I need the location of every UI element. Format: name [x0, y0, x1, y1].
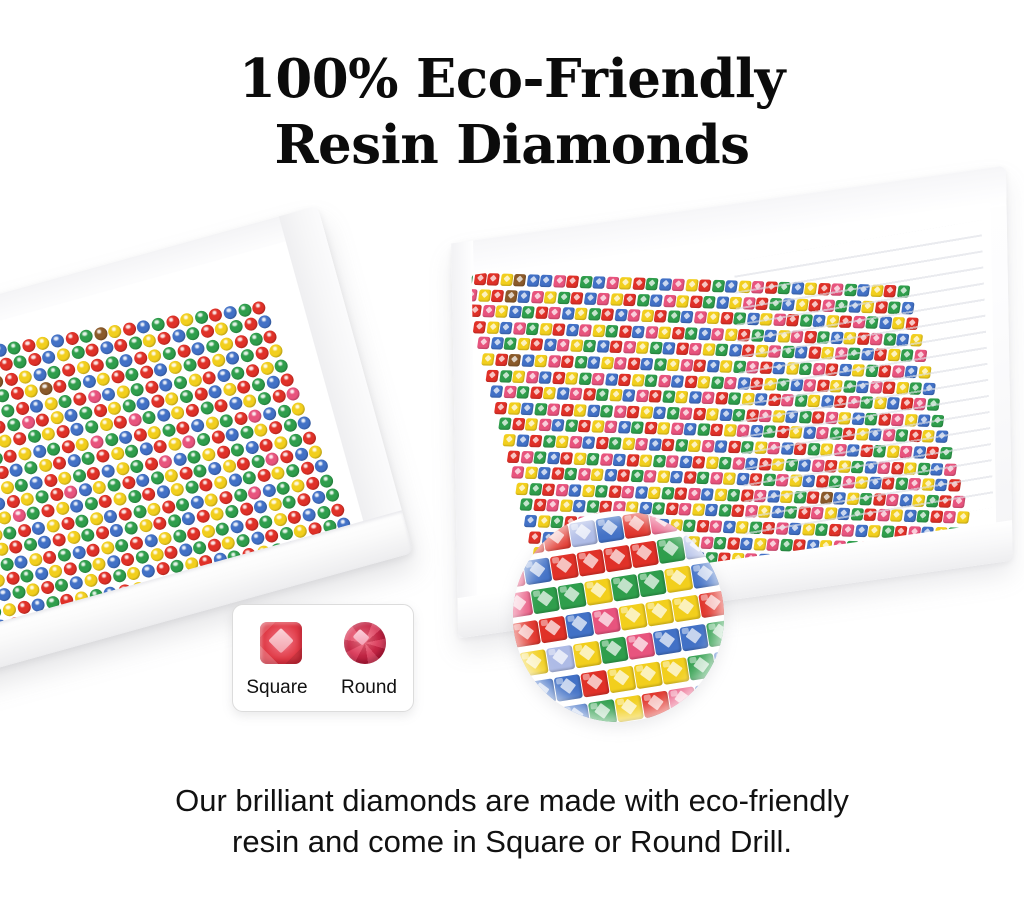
- drill-bead: [25, 583, 40, 598]
- drill-bead: [495, 305, 508, 317]
- drill-bead: [547, 355, 560, 367]
- drill-bead: [35, 413, 50, 428]
- drill-bead: [170, 406, 185, 421]
- drill-bead: [173, 375, 188, 390]
- drill-bead: [271, 466, 286, 481]
- drill-bead: [216, 444, 231, 459]
- drill-bead: [279, 526, 294, 541]
- magnified-drill-bead: [649, 720, 678, 722]
- drill-bead: [126, 566, 141, 581]
- drill-bead: [0, 496, 6, 511]
- drill-bead: [573, 452, 586, 464]
- drill-bead: [182, 435, 197, 450]
- drill-bead: [573, 404, 586, 416]
- drill-bead: [490, 337, 503, 349]
- drill-bead: [671, 327, 684, 339]
- drill-bead: [819, 588, 832, 600]
- drill-bead: [72, 545, 87, 560]
- drill-bead: [116, 384, 131, 399]
- drill-bead: [640, 406, 653, 418]
- magnified-drill-bead: [695, 682, 724, 710]
- drill-bead: [481, 353, 494, 365]
- magnified-drill-bead: [542, 524, 571, 552]
- drill-bead: [21, 415, 36, 430]
- drill-bead: [49, 487, 64, 502]
- drill-bead: [0, 434, 12, 449]
- drill-bead: [530, 290, 543, 302]
- drill-bead: [556, 339, 569, 351]
- drill-bead: [319, 473, 334, 488]
- drill-bead: [239, 425, 254, 440]
- drill-bead: [595, 437, 608, 449]
- drill-bead: [190, 418, 205, 433]
- drill-bead: [596, 341, 609, 353]
- drill-bead: [214, 322, 229, 337]
- drill-bead: [512, 322, 525, 334]
- drill-bead: [645, 326, 658, 338]
- drill-bead: [176, 343, 191, 358]
- drill-bead: [18, 369, 33, 384]
- drill-bead: [26, 429, 41, 444]
- magnified-drill-bead: [531, 587, 560, 615]
- magnified-square-drills-circle: [513, 511, 724, 722]
- drill-bead: [78, 406, 93, 421]
- drill-bead: [294, 447, 309, 462]
- drill-bead: [634, 486, 647, 498]
- drill-bead: [89, 511, 104, 526]
- drill-bead: [133, 350, 148, 365]
- drill-bead: [653, 358, 666, 370]
- magnified-drill-bead: [546, 645, 575, 673]
- drill-bead: [187, 526, 202, 541]
- drill-bead: [684, 327, 697, 339]
- drill-bead: [254, 423, 269, 438]
- drill-bead: [500, 274, 513, 286]
- drill-bead: [587, 404, 600, 416]
- drill-bead: [138, 442, 153, 457]
- drill-bead: [204, 492, 219, 507]
- drill-bead: [236, 533, 251, 548]
- drill-bead: [709, 472, 722, 484]
- drill-bead: [689, 295, 702, 307]
- drill-bead: [710, 376, 723, 388]
- drill-bead: [274, 435, 289, 450]
- legend-label-row: Square Round: [233, 677, 413, 699]
- drill-bead: [947, 575, 960, 587]
- drill-bead: [648, 486, 661, 498]
- drill-bead: [214, 399, 229, 414]
- magnified-drill-bead: [576, 549, 605, 577]
- drill-bead: [503, 434, 516, 446]
- drill-bead: [666, 455, 679, 467]
- drill-bead: [574, 308, 587, 320]
- drill-bead: [525, 419, 538, 431]
- drill-bead: [206, 615, 221, 630]
- drill-bead: [701, 440, 714, 452]
- drill-bead: [112, 492, 127, 507]
- drill-bead: [491, 289, 504, 301]
- drill-bead: [221, 536, 236, 551]
- drill-bead: [706, 360, 719, 372]
- drill-bead: [643, 470, 656, 482]
- drill-bead: [722, 521, 735, 533]
- drill-bead: [31, 521, 46, 536]
- drill-bead: [125, 367, 140, 382]
- drill-bead: [472, 305, 482, 317]
- drill-bead: [133, 427, 148, 442]
- drill-bead: [268, 420, 283, 435]
- drill-bead: [251, 377, 266, 392]
- drill-bead: [938, 591, 951, 601]
- drill-bead: [658, 278, 671, 290]
- drill-bead: [623, 341, 636, 353]
- drill-bead: [9, 463, 24, 478]
- drill-bead: [617, 469, 630, 481]
- drill-bead: [618, 373, 631, 385]
- drill-bead: [511, 466, 524, 478]
- drill-bead: [276, 480, 291, 495]
- magnified-drill-bead: [622, 511, 651, 539]
- drill-bead: [858, 589, 871, 601]
- drill-bead: [683, 423, 696, 435]
- drill-bead: [933, 575, 946, 587]
- drill-bead: [245, 363, 260, 378]
- magnified-drill-bead: [679, 624, 708, 652]
- magnified-drill-bead: [588, 511, 617, 514]
- drill-bead: [302, 507, 317, 522]
- drill-bead: [960, 576, 973, 588]
- drill-bead: [11, 585, 26, 600]
- drill-bead: [277, 404, 292, 419]
- drill-bead: [591, 372, 604, 384]
- drill-bead: [680, 311, 693, 323]
- drill-bead: [495, 354, 508, 366]
- drill-bead: [719, 360, 732, 372]
- drill-bead: [727, 441, 740, 453]
- drill-bead: [57, 547, 72, 562]
- drill-bead: [663, 294, 676, 306]
- drill-bead: [69, 422, 84, 437]
- drill-bead: [512, 418, 525, 430]
- caption-line-2: resin and come in Square or Round Drill.: [42, 822, 982, 863]
- drill-bead: [645, 278, 658, 290]
- drill-bead: [898, 590, 911, 601]
- drill-bead: [556, 387, 569, 399]
- drill-bead: [956, 512, 969, 524]
- drill-bead: [171, 329, 186, 344]
- drill-bead: [538, 467, 551, 479]
- drill-bead: [234, 334, 249, 349]
- drill-bead: [108, 324, 123, 339]
- drill-bead: [237, 303, 252, 318]
- magnified-drill-bead: [527, 678, 556, 706]
- drill-bead: [118, 506, 133, 521]
- drill-bead: [207, 538, 222, 553]
- drill-bead: [724, 328, 737, 340]
- drill-bead: [12, 432, 27, 447]
- drill-bead: [565, 324, 578, 336]
- drill-bead: [148, 348, 163, 363]
- magnified-drill-bead: [710, 528, 724, 556]
- drill-bead: [141, 487, 156, 502]
- drill-bead: [66, 530, 81, 545]
- drill-bead: [296, 493, 311, 508]
- drill-bead: [99, 341, 114, 356]
- drill-bead: [191, 341, 206, 356]
- drill-bead: [156, 331, 171, 346]
- drill-bead: [578, 372, 591, 384]
- drill-bead: [473, 273, 486, 285]
- drill-bead: [53, 379, 68, 394]
- drill-bead: [70, 346, 85, 361]
- magnified-drill-bead: [664, 565, 693, 593]
- drill-bead: [20, 492, 35, 507]
- drill-bead: [194, 310, 209, 325]
- drill-bead: [666, 359, 679, 371]
- drill-bead: [242, 471, 257, 486]
- drill-bead: [581, 484, 594, 496]
- drill-bead: [9, 386, 24, 401]
- drill-bead: [359, 574, 370, 589]
- drill-bead: [32, 444, 47, 459]
- drill-bead: [516, 386, 529, 398]
- drill-bead: [579, 324, 592, 336]
- drill-bead: [38, 458, 53, 473]
- drill-bead: [486, 273, 499, 285]
- drill-bead: [230, 519, 245, 534]
- drill-bead: [557, 291, 570, 303]
- drill-bead: [179, 389, 194, 404]
- drill-bead: [564, 420, 577, 432]
- drill-bead: [0, 343, 7, 358]
- product-caption: Our brilliant diamonds are made with eco…: [42, 781, 982, 863]
- drill-bead: [44, 396, 59, 411]
- drill-bead: [185, 327, 200, 342]
- drill-bead: [47, 365, 62, 380]
- drill-bead: [36, 336, 51, 351]
- drill-bead: [516, 434, 529, 446]
- drill-bead: [711, 328, 724, 340]
- drill-bead: [674, 487, 687, 499]
- drill-bead: [228, 320, 243, 335]
- magnified-drill-bead: [702, 711, 724, 722]
- drill-bead: [526, 322, 539, 334]
- magnified-drill-bead: [607, 666, 636, 694]
- drill-bead: [80, 528, 95, 543]
- drill-bead: [104, 432, 119, 447]
- magnified-drill-bead: [615, 695, 644, 722]
- magnified-drill-bead: [599, 636, 628, 664]
- drill-bead: [139, 365, 154, 380]
- drill-bead: [64, 331, 79, 346]
- magnified-drill-bead: [618, 603, 647, 631]
- drill-bead: [23, 461, 38, 476]
- drill-bead: [164, 468, 179, 483]
- drill-bead: [150, 394, 165, 409]
- drill-bead: [503, 338, 516, 350]
- drill-bead: [223, 305, 238, 320]
- drill-bead: [504, 290, 517, 302]
- drill-bead: [538, 371, 551, 383]
- drill-bead: [555, 484, 568, 496]
- drill-bead: [237, 380, 252, 395]
- drill-bead: [274, 358, 289, 373]
- drill-bead: [907, 574, 920, 586]
- drill-bead: [472, 289, 478, 301]
- drill-bead: [574, 356, 587, 368]
- drill-bead: [84, 420, 99, 435]
- drill-bead: [569, 436, 582, 448]
- magnified-drill-bead: [691, 561, 720, 589]
- drill-bead: [29, 475, 44, 490]
- magnified-drill-bead: [592, 607, 621, 635]
- drill-bead: [29, 398, 44, 413]
- drill-bead: [37, 535, 52, 550]
- drill-bead: [118, 430, 133, 445]
- tray-grooves: [734, 220, 994, 548]
- drill-bead: [688, 439, 701, 451]
- drill-bead: [622, 389, 635, 401]
- drill-bead: [257, 315, 272, 330]
- drill-bead: [911, 590, 924, 601]
- drill-bead: [130, 382, 145, 397]
- drill-bead: [301, 584, 316, 599]
- drill-bead: [122, 322, 137, 337]
- drill-bead: [0, 480, 15, 495]
- drill-bead: [680, 359, 693, 371]
- drill-bead: [548, 307, 561, 319]
- drill-bead: [520, 451, 533, 463]
- drill-bead: [714, 488, 727, 500]
- drill-bead: [605, 277, 618, 289]
- magnified-drill-bead: [561, 703, 590, 722]
- drill-bead: [100, 540, 115, 555]
- drill-bead: [698, 279, 711, 291]
- drill-bead: [544, 291, 557, 303]
- drill-bead: [253, 500, 268, 515]
- drill-bead: [720, 312, 733, 324]
- drill-bead: [90, 434, 105, 449]
- drill-bead: [533, 451, 546, 463]
- drill-bead: [210, 507, 225, 522]
- drill-bead: [635, 390, 648, 402]
- magnified-drill-bead: [513, 620, 541, 648]
- drill-bead: [48, 564, 63, 579]
- drill-bead: [282, 418, 297, 433]
- drill-bead: [687, 488, 700, 500]
- drill-bead: [0, 573, 6, 588]
- drill-bead: [158, 531, 173, 546]
- drill-bead: [885, 590, 898, 602]
- drill-bead: [345, 577, 360, 592]
- page-title: 100% Eco-Friendly Resin Diamonds: [0, 52, 1024, 172]
- drill-bead: [207, 461, 222, 476]
- drill-bead: [561, 307, 574, 319]
- drill-bead: [508, 354, 521, 366]
- drill-bead: [517, 338, 530, 350]
- drill-bead: [121, 398, 136, 413]
- drill-bead: [526, 274, 539, 286]
- drill-bead: [688, 391, 701, 403]
- drill-bead: [153, 363, 168, 378]
- drill-bead: [145, 379, 160, 394]
- drill-bead: [72, 468, 87, 483]
- drill-shape-legend-card[interactable]: Square Round: [232, 604, 414, 712]
- drill-bead: [311, 490, 326, 505]
- drill-bead: [534, 403, 547, 415]
- drill-bead: [225, 351, 240, 366]
- drill-bead: [14, 477, 29, 492]
- drill-bead: [719, 408, 732, 420]
- drill-bead: [718, 456, 731, 468]
- drill-bead: [187, 449, 202, 464]
- drill-bead: [34, 566, 49, 581]
- magnified-drill-bead: [588, 699, 617, 722]
- drill-bead: [871, 589, 884, 601]
- drill-bead: [78, 482, 93, 497]
- drill-bead: [222, 382, 237, 397]
- drill-bead: [657, 374, 670, 386]
- drill-bead: [101, 463, 116, 478]
- drill-bead: [636, 342, 649, 354]
- drill-bead: [689, 343, 702, 355]
- drill-bead: [507, 402, 520, 414]
- drill-bead: [684, 375, 697, 387]
- drill-bead: [11, 509, 26, 524]
- drill-bead: [644, 374, 657, 386]
- drill-bead: [482, 305, 495, 317]
- drill-bead: [670, 471, 683, 483]
- drill-bead: [631, 326, 644, 338]
- drill-bead: [521, 306, 534, 318]
- drill-bead: [224, 504, 239, 519]
- drill-bead: [113, 338, 128, 353]
- drill-bead: [216, 521, 231, 536]
- drill-bead: [18, 446, 33, 461]
- drill-bead: [561, 356, 574, 368]
- drill-bead: [649, 294, 662, 306]
- drill-bead: [90, 358, 105, 373]
- drill-bead: [596, 389, 609, 401]
- drill-bead: [41, 427, 56, 442]
- drill-bead: [107, 401, 122, 416]
- drill-bead: [547, 403, 560, 415]
- drill-bead: [161, 499, 176, 514]
- drill-bead: [265, 375, 280, 390]
- drill-bead: [539, 275, 552, 287]
- magnified-drill-bead: [649, 511, 678, 535]
- drill-bead: [644, 422, 657, 434]
- drill-bead: [236, 456, 251, 471]
- drill-bead: [288, 433, 303, 448]
- drill-bead: [273, 512, 288, 527]
- drill-bead: [64, 408, 79, 423]
- drill-bead: [247, 485, 262, 500]
- drill-bead: [653, 406, 666, 418]
- drill-bead: [185, 403, 200, 418]
- drill-bead: [3, 525, 18, 540]
- drill-bead: [657, 471, 670, 483]
- drill-bead: [626, 454, 639, 466]
- magnified-drill-bead: [513, 511, 537, 527]
- drill-bead: [248, 408, 263, 423]
- drill-bead: [199, 401, 214, 416]
- drill-bead: [193, 463, 208, 478]
- drill-bead: [533, 499, 546, 511]
- drill-bead: [648, 390, 661, 402]
- drill-bead: [69, 499, 84, 514]
- drill-bead: [43, 549, 58, 564]
